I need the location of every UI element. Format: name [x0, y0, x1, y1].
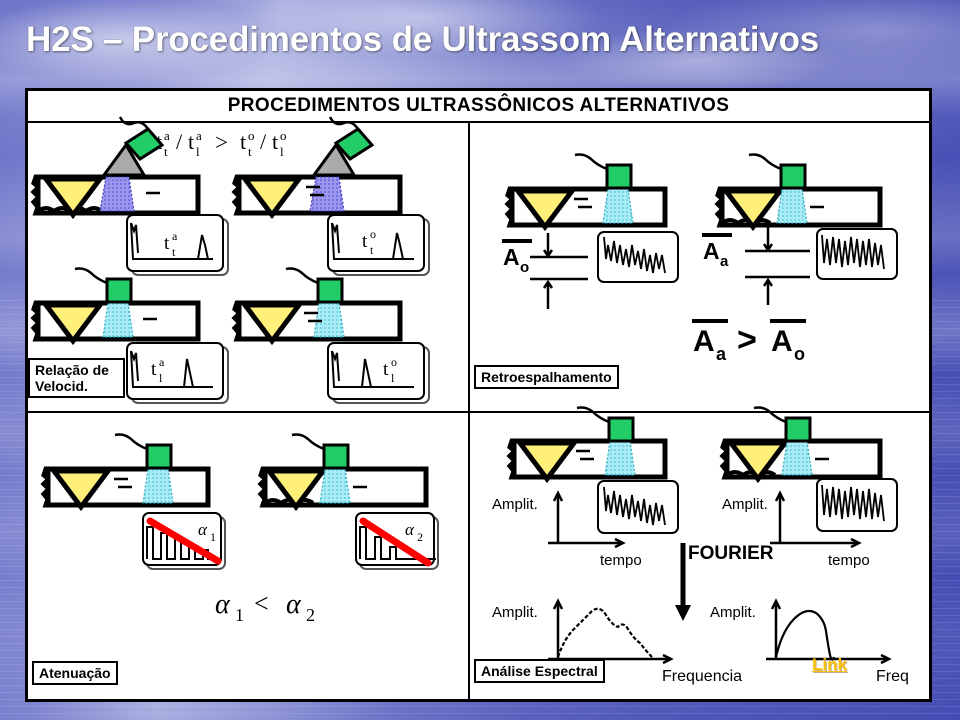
- svg-text:>: >: [737, 321, 757, 359]
- svg-text:l: l: [196, 144, 200, 159]
- svg-text:/: /: [176, 129, 183, 154]
- attenuation-screen-alpha2: α 2: [356, 513, 438, 569]
- caption-text: Retroespalhamento: [481, 369, 612, 385]
- svg-text:<: <: [254, 589, 269, 618]
- svg-text:a: a: [164, 128, 170, 143]
- svg-text:α: α: [405, 520, 415, 539]
- specimen-normal-probe-attacked: [34, 269, 198, 342]
- amplitude-label-aa: A a: [702, 235, 732, 270]
- svg-text:α: α: [215, 589, 231, 620]
- backscatter-screen-original: [598, 232, 678, 282]
- timedomain-screen-original: [598, 481, 678, 533]
- attenuation-screen-alpha1: α 1: [143, 513, 225, 569]
- svg-text:t: t: [248, 144, 252, 159]
- ascan-screen-tl-o: t o l: [328, 343, 429, 403]
- caption-text: Atenuação: [39, 665, 111, 681]
- backscatter-comparison: A a > A o: [692, 321, 806, 364]
- caption-analise-espectral: Análise Espectral: [474, 659, 605, 683]
- svg-text:α: α: [286, 589, 302, 620]
- specimen-backscatter-original: [508, 155, 665, 228]
- quadrant-retroespalhamento: A o: [470, 123, 929, 413]
- backscatter-screen-attacked: [817, 229, 897, 279]
- svg-text:/: /: [260, 129, 267, 154]
- svg-text:FOURIER: FOURIER: [688, 543, 774, 564]
- svg-text:1: 1: [235, 605, 244, 625]
- svg-text:t: t: [151, 359, 157, 380]
- ascan-screen-tt-o: t o t: [328, 215, 429, 275]
- svg-text:2: 2: [417, 530, 423, 544]
- svg-text:t: t: [164, 144, 168, 159]
- svg-text:o: o: [248, 128, 255, 143]
- amplitude-label-left-top: Amplit.: [492, 496, 538, 513]
- spectrum-axis-left: [548, 601, 671, 663]
- svg-text:o: o: [520, 259, 529, 276]
- svg-text:l: l: [280, 144, 284, 159]
- attenuation-comparison: α 1 < α 2: [215, 589, 315, 625]
- ascan-screen-tt-a: t a t: [127, 215, 228, 275]
- amplitude-dimension-ao: [530, 233, 588, 309]
- spectrum-curve-left: [558, 609, 652, 657]
- time-label-right: tempo: [828, 552, 870, 569]
- ascan-screen-tl-a: t a l: [127, 343, 228, 403]
- svg-text:t: t: [240, 129, 246, 154]
- caption-retroespalhamento: Retroespalhamento: [474, 365, 619, 389]
- svg-text:1: 1: [210, 530, 216, 544]
- diagram-header-title: PROCEDIMENTOS ULTRASSÔNICOS ALTERNATIVOS: [28, 91, 929, 123]
- amplitude-dimension-aa: [745, 227, 810, 305]
- frequency-label-short: Freq: [876, 668, 909, 685]
- specimen-backscatter-attacked: [718, 155, 880, 228]
- caption-text: Análise Espectral: [481, 663, 598, 679]
- velocity-ratio-formula: t a t / t a l > t o t / t o l: [156, 128, 287, 159]
- specimen-angle-probe-attacked: [34, 117, 198, 215]
- specimen-attenuation-attacked: [261, 435, 426, 508]
- svg-text:>: >: [215, 130, 228, 155]
- slide-title: H2S – Procedimentos de Ultrassom Alterna…: [26, 16, 936, 66]
- svg-text:o: o: [794, 344, 805, 364]
- amplitude-label-right-top: Amplit.: [722, 496, 768, 513]
- slide-canvas: H2S – Procedimentos de Ultrassom Alterna…: [0, 0, 960, 720]
- svg-text:o: o: [391, 355, 397, 369]
- svg-text:t: t: [164, 233, 170, 254]
- link-hyperlink[interactable]: Link: [812, 655, 847, 675]
- frequency-label-full: Frequencia: [662, 668, 742, 685]
- quadrant-atenuacao: α 1: [28, 413, 470, 699]
- spectrum-curve-right: [776, 611, 834, 660]
- caption-relacao-de-velocidade: Relação de Velocid.: [28, 358, 125, 398]
- svg-text:2: 2: [306, 605, 315, 625]
- svg-text:A: A: [703, 238, 720, 264]
- svg-text:a: a: [716, 344, 727, 364]
- svg-text:α: α: [198, 520, 208, 539]
- spectral-analysis-illustration: Amplit. tempo: [470, 413, 929, 699]
- svg-text:o: o: [280, 128, 287, 143]
- svg-text:a: a: [720, 253, 729, 270]
- svg-text:t: t: [188, 129, 194, 154]
- specimen-attenuation-original: [44, 435, 208, 508]
- svg-text:t: t: [383, 359, 389, 380]
- svg-text:A: A: [693, 325, 715, 358]
- svg-text:o: o: [370, 227, 376, 241]
- time-label-left: tempo: [600, 552, 642, 569]
- amplitude-label-right-bottom: Amplit.: [710, 604, 756, 621]
- svg-text:t: t: [362, 231, 368, 252]
- specimen-normal-probe-original: [235, 269, 400, 342]
- svg-text:A: A: [771, 325, 793, 358]
- caption-atenuacao: Atenuação: [32, 661, 118, 685]
- svg-text:A: A: [503, 244, 520, 270]
- attenuation-illustration: α 1: [28, 413, 470, 699]
- quadrant-analise-espectral: Amplit. tempo: [470, 413, 929, 699]
- quadrant-relacao-de-velocidade: t a t / t a l > t o t / t o l: [28, 123, 470, 413]
- svg-text:a: a: [196, 128, 202, 143]
- caption-line-1: Relação de Velocid.: [35, 362, 118, 394]
- specimen-spectral-attacked: [723, 408, 880, 480]
- svg-text:t: t: [272, 129, 278, 154]
- timedomain-screen-attacked: [817, 479, 897, 531]
- diagram-frame: PROCEDIMENTOS ULTRASSÔNICOS ALTERNATIVOS: [25, 88, 932, 702]
- svg-text:a: a: [172, 229, 178, 243]
- svg-text:a: a: [159, 355, 165, 369]
- amplitude-label-left-bottom: Amplit.: [492, 604, 538, 621]
- amplitude-label-ao: A o: [502, 241, 532, 276]
- specimen-spectral-original: [510, 408, 665, 480]
